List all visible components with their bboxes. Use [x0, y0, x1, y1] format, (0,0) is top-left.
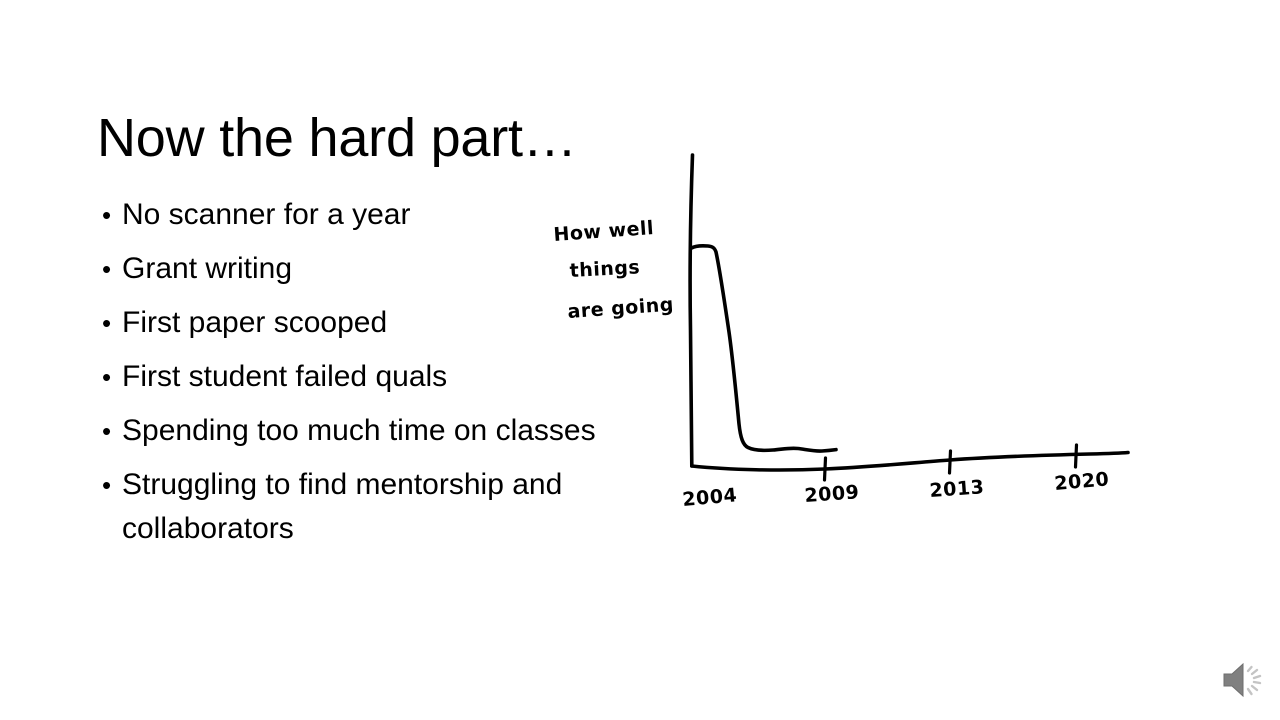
chart-xtick-label-2004: 2004	[682, 484, 739, 511]
chart-x-axis	[692, 453, 1128, 471]
speaker-body-icon	[1224, 664, 1243, 696]
list-item-label: First student failed quals	[122, 355, 598, 399]
list-item-label: Grant writing	[122, 247, 598, 291]
presentation-slide: Now the hard part… • No scanner for a ye…	[0, 0, 1280, 720]
list-item-label: No scanner for a year	[122, 193, 598, 237]
list-item: • Spending too much time on classes	[98, 409, 598, 453]
speaker-waves-icon	[1248, 667, 1260, 694]
chart-xtick-label-2020: 2020	[1054, 468, 1111, 495]
list-item: • First student failed quals	[98, 355, 598, 399]
chart-tick-2020	[1076, 445, 1077, 467]
bullet-list: • No scanner for a year • Grant writing …	[98, 193, 598, 561]
bullet-marker-icon: •	[102, 247, 111, 291]
chart-ylabel-line-3: are going	[567, 294, 675, 323]
chart-data-line	[692, 246, 837, 451]
bullet-marker-icon: •	[102, 301, 111, 345]
bullet-marker-icon: •	[102, 409, 111, 453]
list-item-label: Spending too much time on classes	[122, 409, 598, 453]
chart-ylabel-line-2: things	[569, 256, 641, 282]
speaker-audio-icon[interactable]	[1218, 657, 1266, 703]
list-item-label: Struggling to find mentorship and collab…	[122, 463, 598, 551]
chart-tick-2009	[825, 458, 826, 480]
list-item: • Grant writing	[98, 247, 598, 291]
chart-xtick-label-2009: 2009	[804, 481, 860, 507]
bullet-marker-icon: •	[102, 463, 111, 507]
chart-ylabel-line-1: How well	[553, 217, 655, 246]
bullet-marker-icon: •	[102, 193, 111, 237]
page-title: Now the hard part…	[97, 109, 577, 167]
list-item: • First paper scooped	[98, 301, 598, 345]
chart-xtick-label-2013: 2013	[929, 476, 985, 502]
list-item: • No scanner for a year	[98, 193, 598, 237]
hand-drawn-line-chart: How well things are going 2004 2009 2013…	[530, 140, 1150, 520]
bullet-marker-icon: •	[102, 355, 111, 399]
chart-y-axis	[690, 155, 692, 466]
list-item-label: First paper scooped	[122, 301, 598, 345]
list-item: • Struggling to find mentorship and coll…	[98, 463, 598, 551]
chart-tick-2013	[950, 451, 951, 473]
